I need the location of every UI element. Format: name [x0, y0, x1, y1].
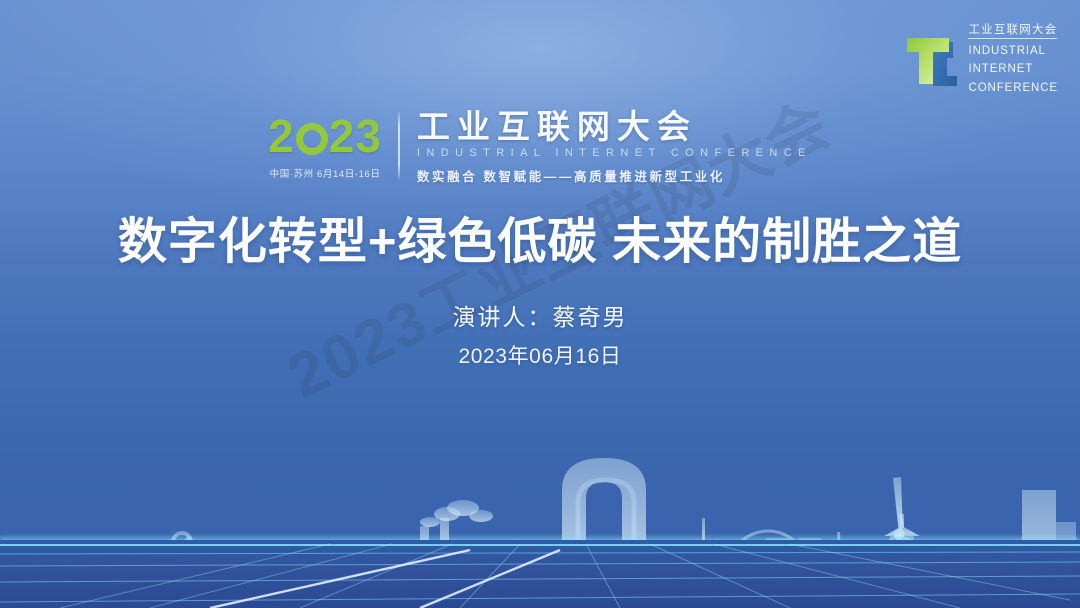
lockup-name-block: 工业互联网大会 INDUSTRIAL INTERNET CONFERENCE 数…	[417, 110, 812, 185]
perspective-ground-grid	[0, 540, 1080, 608]
corner-logo-cn: 工业互联网大会	[968, 24, 1057, 39]
corner-logo-en-3: CONFERENCE	[968, 82, 1058, 94]
corner-logo-en-2: INTERNET	[968, 63, 1033, 75]
conference-lockup: 223 中国·苏州 6月14日-16日 工业互联网大会 INDUSTRIAL I…	[0, 110, 1080, 185]
talk-date: 2023年06月16日	[0, 340, 1080, 370]
slide-headline: 数字化转型+绿色低碳 未来的制胜之道	[0, 202, 1080, 273]
corner-conference-logo: 工业互联网大会 INDUSTRIAL INTERNET CONFERENCE	[903, 20, 1058, 96]
conference-name-en: INDUSTRIAL INTERNET CONFERENCE	[417, 147, 812, 159]
lockup-divider	[398, 112, 400, 179]
industrial-internet-t-mark-icon	[903, 28, 959, 88]
speaker-name: 演讲人：蔡奇男	[0, 298, 1080, 332]
place-and-date: 中国·苏州 6月14日-16日	[268, 166, 382, 180]
corner-logo-text: 工业互联网大会 INDUSTRIAL INTERNET CONFERENCE	[968, 20, 1058, 96]
lockup-year-block: 223 中国·苏州 6月14日-16日	[268, 110, 398, 185]
year-digits-23: 23	[329, 110, 382, 162]
year-digit-2: 2	[268, 110, 295, 162]
year-ring-zero	[296, 123, 328, 155]
year-2023: 223	[268, 115, 382, 158]
corner-logo-en-1: INDUSTRIAL	[968, 45, 1045, 57]
presentation-slide: 2023工业互联网大会 工业互联网大会 INDUSTRIAL	[0, 0, 1080, 608]
conference-tagline: 数实融合 数智赋能——高质量推进新型工业化	[417, 166, 812, 185]
conference-name-cn: 工业互联网大会	[417, 110, 812, 145]
